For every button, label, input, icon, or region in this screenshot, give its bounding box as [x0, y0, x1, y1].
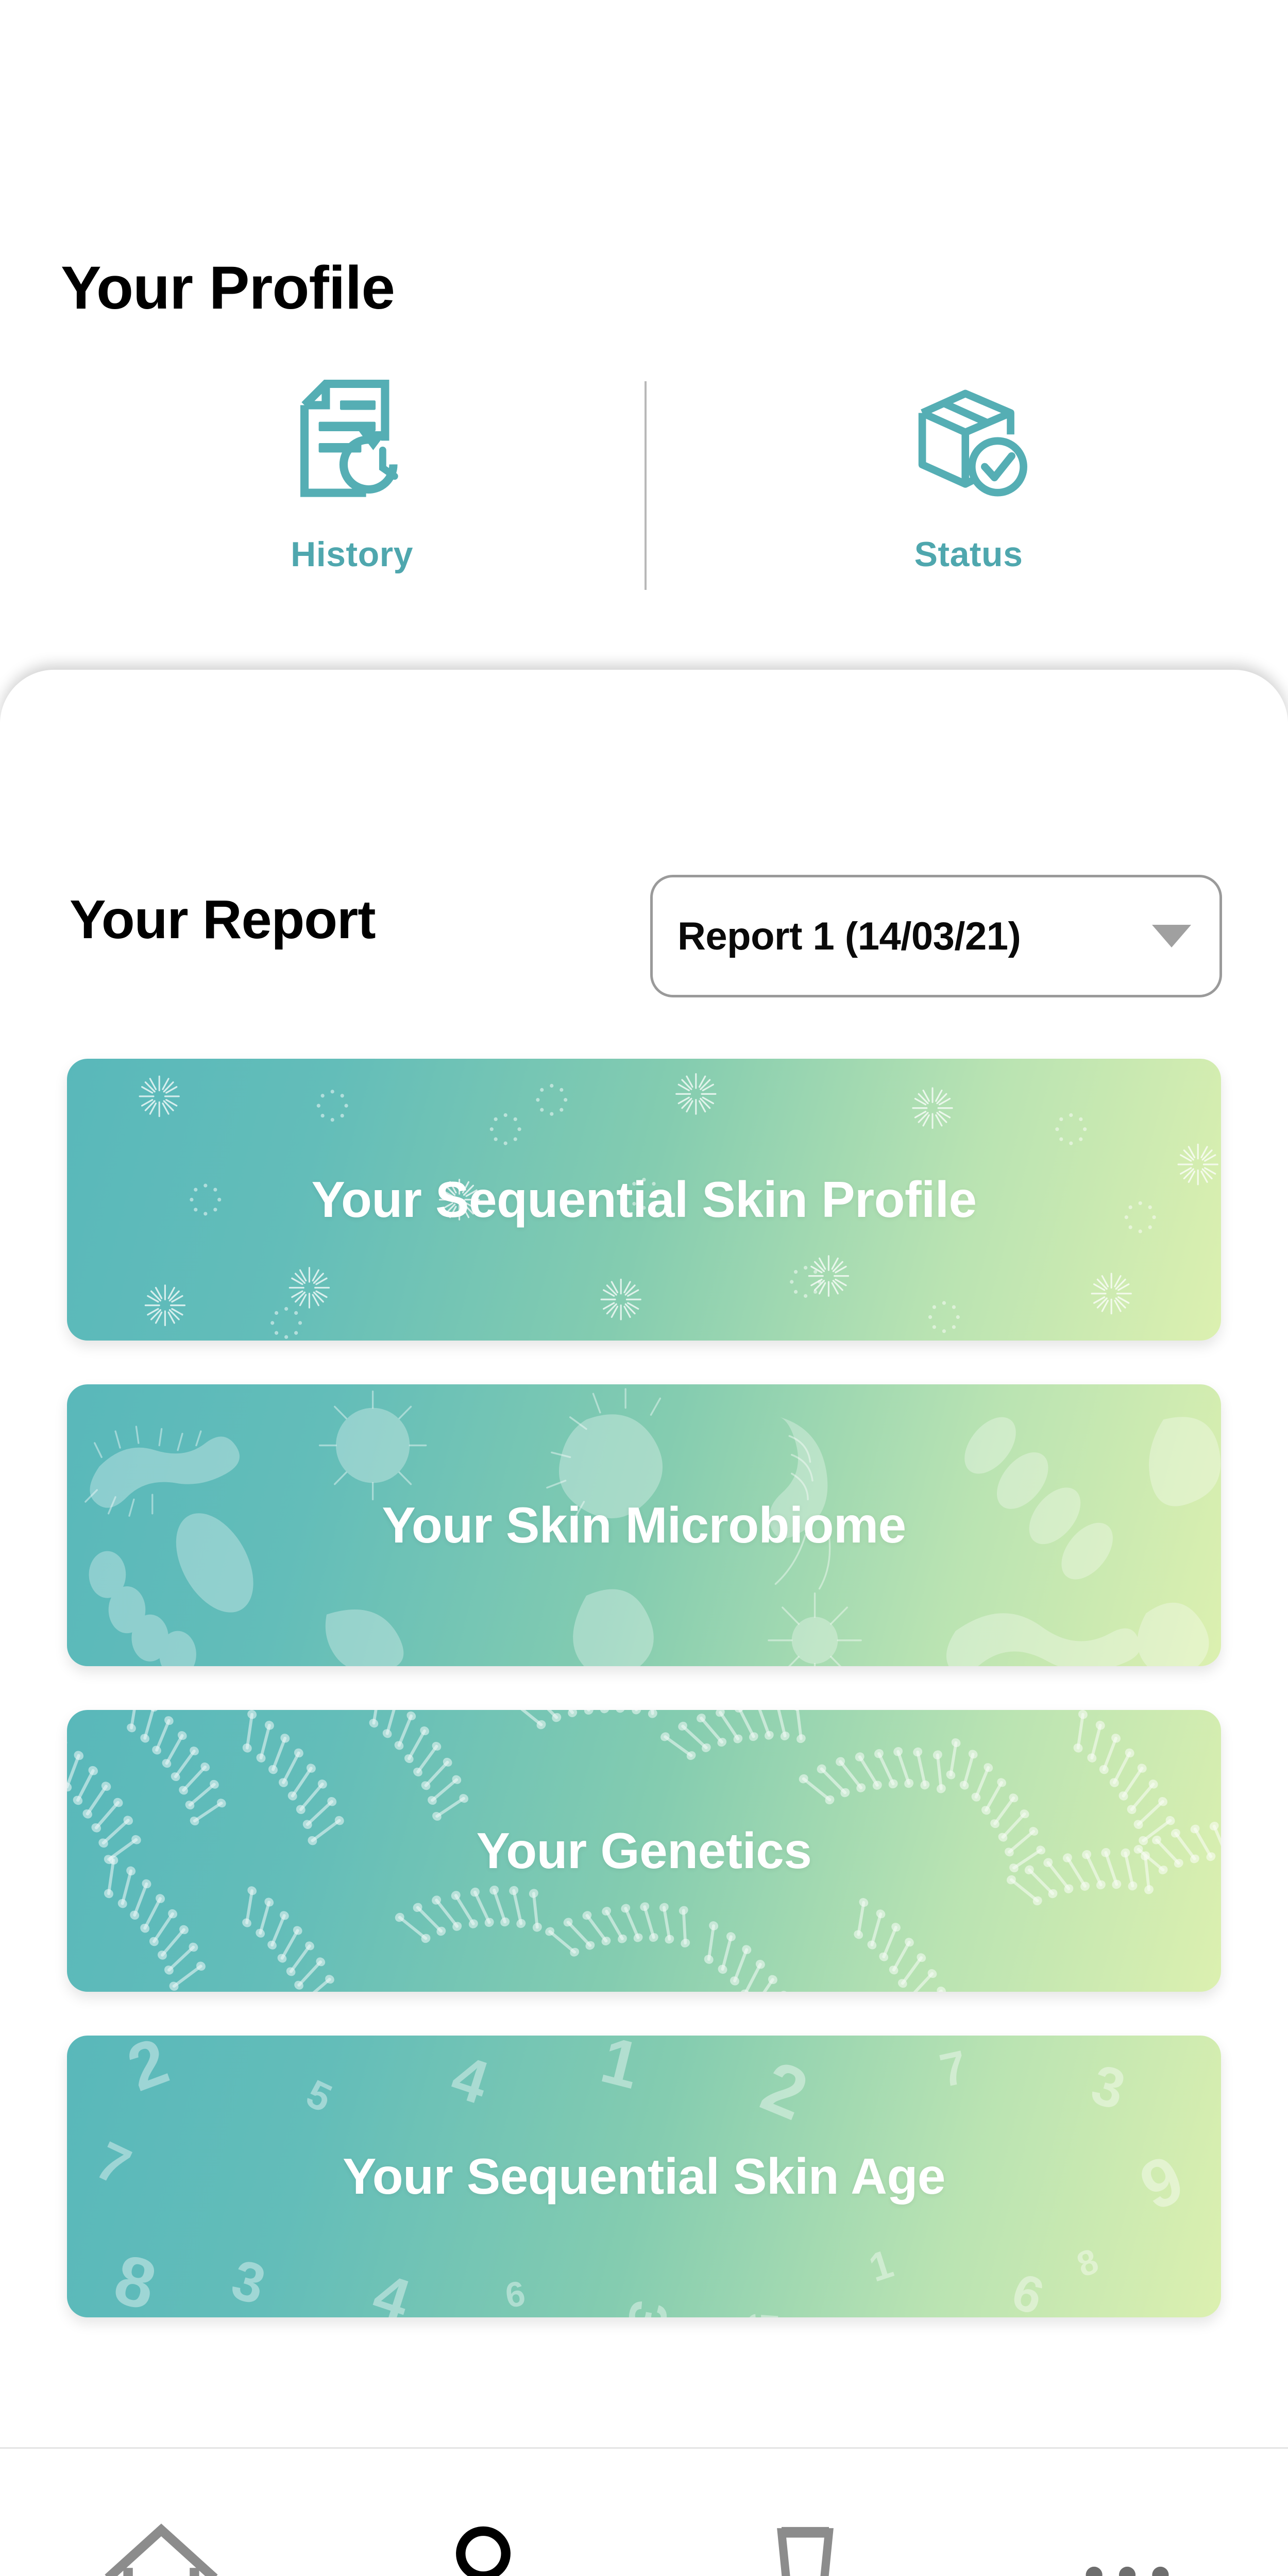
- card-sequential-skin-age[interactable]: 2 5 4 1 2 7 3 7 9 8 3 4 6 3 5: [67, 2036, 1221, 2317]
- report-card-list: Your Sequential Skin Profile: [0, 1059, 1288, 2361]
- svg-text:6: 6: [1005, 2262, 1050, 2317]
- report-header-row: Your Report Report 1 (14/03/21): [0, 860, 1288, 1010]
- svg-text:7: 7: [88, 2130, 140, 2198]
- card-label: Your Genetics: [477, 1822, 812, 1880]
- card-label: Your Sequential Skin Profile: [311, 1171, 976, 1229]
- nav-item-more[interactable]: [966, 2490, 1288, 2576]
- app-screen: Your Profile: [0, 0, 1288, 2576]
- svg-text:8: 8: [1072, 2242, 1104, 2285]
- tab-status[interactable]: Status: [788, 379, 1149, 574]
- svg-text:3: 3: [225, 2247, 272, 2316]
- bottom-nav-items: [0, 2490, 1288, 2576]
- svg-text:5: 5: [738, 2313, 787, 2317]
- chevron-down-icon: [1152, 925, 1191, 947]
- person-icon: [424, 2516, 543, 2576]
- page-title: Your Profile: [61, 258, 395, 318]
- svg-text:3: 3: [1085, 2053, 1132, 2122]
- svg-text:1: 1: [864, 2241, 899, 2291]
- svg-text:9: 9: [1129, 2140, 1194, 2225]
- bottom-navigation-bar: [0, 2447, 1288, 2576]
- report-section-title: Your Report: [70, 892, 376, 947]
- nav-item-home[interactable]: [0, 2490, 322, 2576]
- svg-text:5: 5: [300, 2071, 338, 2121]
- svg-text:4: 4: [444, 2042, 497, 2117]
- ellipsis-icon: [1068, 2516, 1187, 2576]
- card-label: Your Skin Microbiome: [382, 1496, 906, 1554]
- card-sequential-skin-profile[interactable]: Your Sequential Skin Profile: [67, 1059, 1221, 1341]
- card-skin-microbiome[interactable]: Your Skin Microbiome: [67, 1384, 1221, 1666]
- svg-text:3: 3: [616, 2297, 679, 2317]
- tab-history-label: History: [291, 534, 413, 574]
- nav-item-products[interactable]: [644, 2490, 966, 2576]
- svg-text:2: 2: [118, 2036, 177, 2105]
- svg-text:4: 4: [365, 2260, 418, 2317]
- document-clock-icon: [293, 379, 411, 507]
- card-label: Your Sequential Skin Age: [343, 2147, 945, 2206]
- profile-tab-bar: History Status: [0, 379, 1288, 626]
- tube-icon: [746, 2516, 865, 2576]
- nav-item-profile[interactable]: [322, 2490, 644, 2576]
- tab-status-label: Status: [914, 534, 1023, 574]
- svg-text:1: 1: [595, 2036, 647, 2103]
- card-genetics[interactable]: Your Genetics: [67, 1710, 1221, 1992]
- svg-text:7: 7: [936, 2041, 972, 2097]
- svg-text:6: 6: [502, 2274, 528, 2316]
- report-selector[interactable]: Report 1 (14/03/21): [650, 875, 1222, 997]
- svg-text:2: 2: [751, 2045, 818, 2136]
- package-check-icon: [909, 379, 1028, 507]
- svg-text:8: 8: [107, 2239, 163, 2317]
- home-icon: [102, 2516, 221, 2576]
- tab-history[interactable]: History: [172, 379, 532, 574]
- report-selector-value: Report 1 (14/03/21): [677, 914, 1142, 959]
- tab-divider: [645, 381, 647, 590]
